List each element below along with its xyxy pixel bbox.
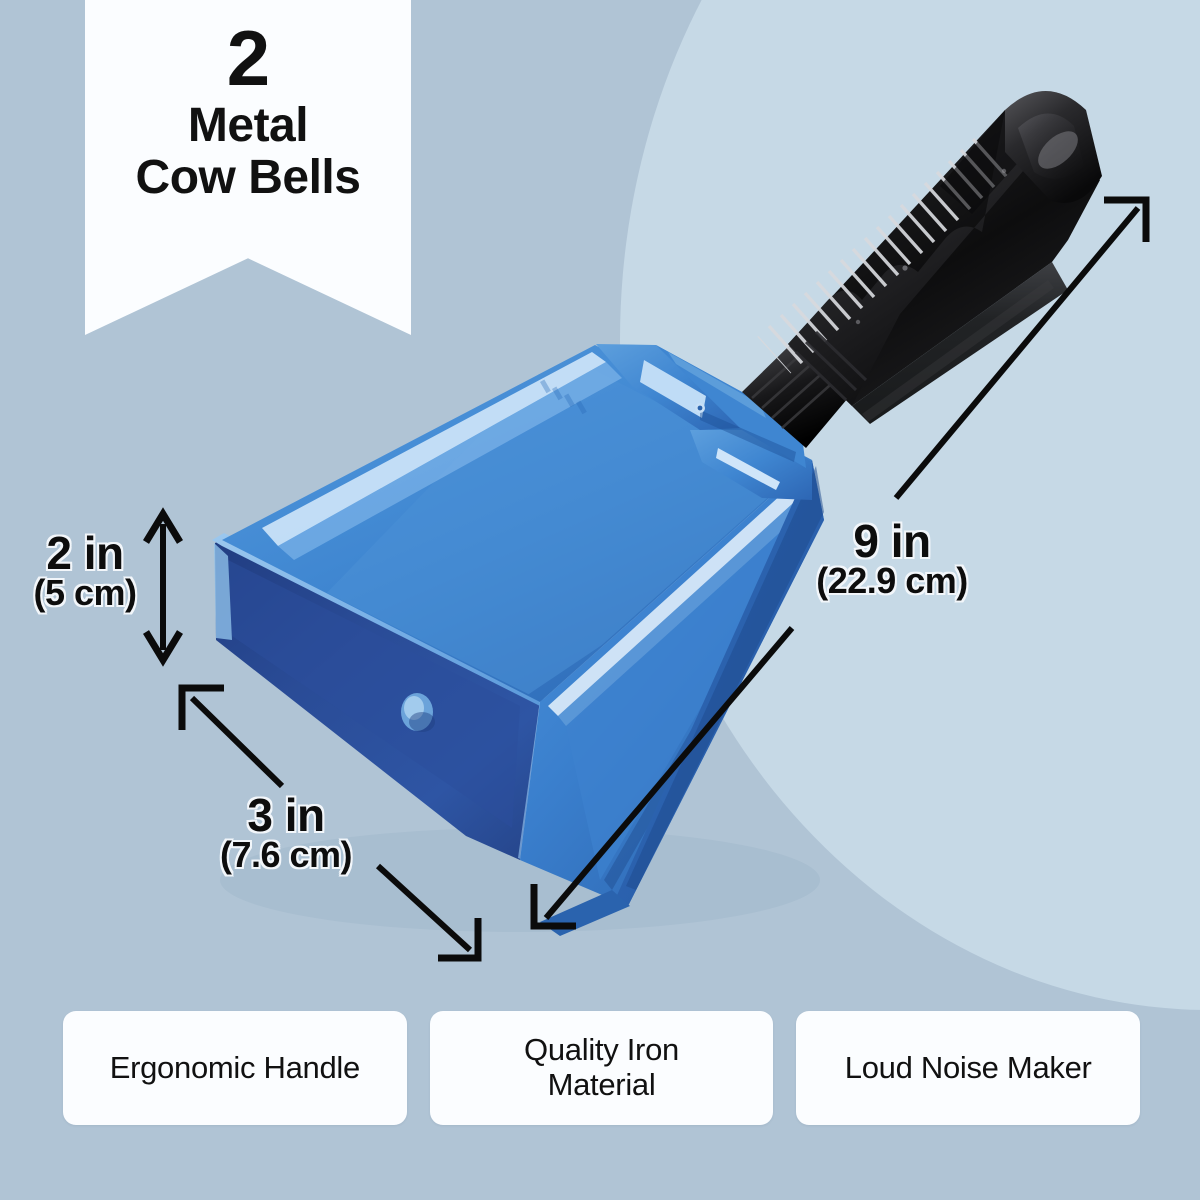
feature-cards: Ergonomic Handle Quality IronMaterial Lo…: [63, 1011, 1140, 1125]
dimension-length-inches: 9 in: [792, 518, 992, 565]
feature-card-quality-iron-material: Quality IronMaterial: [430, 1011, 774, 1125]
title-line-2: Cow Bells: [136, 152, 361, 204]
feature-card-ergonomic-handle: Ergonomic Handle: [63, 1011, 407, 1125]
feature-card-loud-noise-maker: Loud Noise Maker: [796, 1011, 1140, 1125]
feature-label: Ergonomic Handle: [110, 1051, 360, 1086]
dimension-height-metric: (5 cm): [10, 575, 160, 612]
dimension-depth-inches: 3 in: [186, 792, 386, 839]
dimension-label-depth: 3 in (7.6 cm): [186, 792, 386, 874]
dimension-depth-metric: (7.6 cm): [186, 837, 386, 874]
dimension-height-inches: 2 in: [10, 530, 160, 577]
feature-label: Quality IronMaterial: [524, 1033, 679, 1102]
product-count: 2: [227, 20, 269, 96]
dimension-label-height: 2 in (5 cm): [10, 530, 160, 612]
product-infographic: 2 Metal Cow Bells 2 in (5 cm) 3 in (7.6 …: [0, 0, 1200, 1200]
dimension-label-length: 9 in (22.9 cm): [792, 518, 992, 600]
dimension-length-metric: (22.9 cm): [792, 563, 992, 600]
title-line-1: Metal: [188, 100, 308, 152]
feature-label: Loud Noise Maker: [845, 1051, 1092, 1086]
